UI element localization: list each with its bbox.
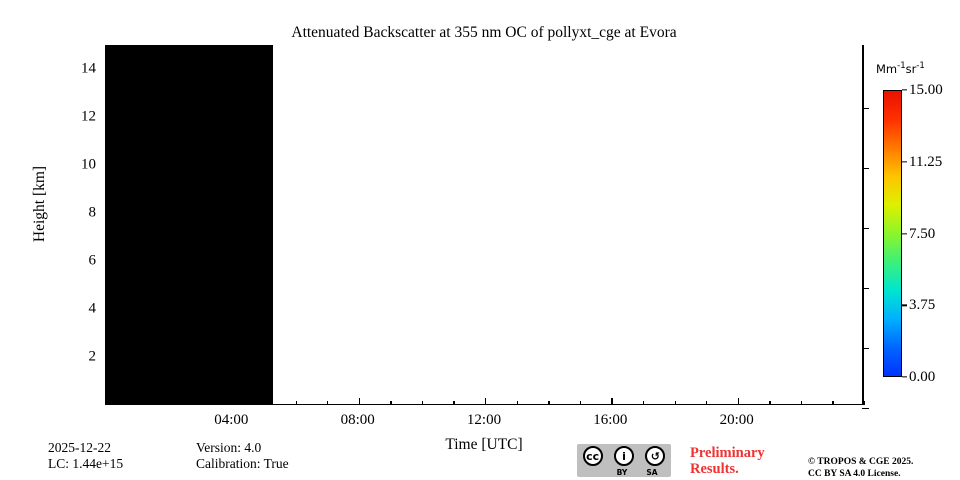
- x-axis-tick-label: 08:00: [341, 412, 375, 429]
- colorbar-tick: [902, 161, 907, 162]
- y-axis-tick-label: 6: [44, 253, 96, 270]
- x-axis-minor-tick: [453, 401, 454, 405]
- colorbar-tick-label: 11.25: [909, 154, 942, 170]
- y-axis-tick-label: 12: [44, 109, 96, 126]
- footer-version-block: Version: 4.0Calibration: True: [196, 440, 289, 472]
- x-axis-minor-tick: [327, 401, 328, 405]
- colorbar-tick-label: 3.75: [909, 297, 935, 313]
- data-area: [106, 45, 863, 404]
- y-axis-tick: [105, 69, 112, 70]
- y-axis-tick-label: 10: [44, 157, 96, 174]
- sa-glyph: ↺: [651, 451, 660, 462]
- y-axis-tick: [105, 357, 112, 358]
- colorbar-unit-exp2: -1: [916, 61, 924, 71]
- axes-right-spine: [862, 45, 863, 405]
- y-axis-tick-label: 14: [44, 61, 96, 78]
- copyright-note: © TROPOS & CGE 2025. CC BY SA 4.0 Licens…: [808, 456, 913, 480]
- cc-sublabel-by: BY: [607, 468, 637, 477]
- x-axis-tick: [485, 398, 486, 405]
- y-axis-minor-tick: [105, 381, 109, 382]
- colorbar-axis-outer-tick: [862, 408, 869, 409]
- y-axis-tick: [105, 261, 112, 262]
- colorbar[interactable]: 15.0011.257.503.750.00: [883, 90, 902, 377]
- creative-commons-icon: cc: [583, 446, 603, 466]
- colorbar-axis-outer-tick: [862, 288, 869, 289]
- x-axis-minor-tick: [201, 401, 202, 405]
- x-axis-tick: [359, 398, 360, 405]
- colorbar-tick: [902, 89, 907, 90]
- y-axis-tick: [105, 117, 112, 118]
- y-axis-tick-label: 8: [44, 205, 96, 222]
- y-axis-minor-tick: [105, 45, 109, 46]
- y-axis-tick: [105, 213, 112, 214]
- x-axis-tick-label: 04:00: [214, 412, 248, 429]
- colorbar-tick: [902, 233, 907, 234]
- x-axis-tick-label: 16:00: [593, 412, 627, 429]
- footer-date-block: 2025-12-22LC: 1.44e+15: [48, 440, 123, 472]
- x-axis-tick-label: 12:00: [467, 412, 501, 429]
- footer-lidar-constant: LC: 1.44e+15: [48, 456, 123, 471]
- colorbar-tick-label: 15.00: [909, 82, 943, 98]
- plot-axes[interactable]: [105, 45, 863, 405]
- colorbar-unit-exp1: -1: [897, 61, 905, 71]
- x-axis-minor-tick: [390, 401, 391, 405]
- x-axis-minor-tick: [138, 401, 139, 405]
- y-axis-minor-tick: [105, 141, 109, 142]
- x-axis-minor-tick: [422, 401, 423, 405]
- y-axis-minor-tick: [105, 93, 109, 94]
- x-axis-minor-tick: [801, 401, 802, 405]
- colorbar-tick: [902, 376, 907, 377]
- cc-badge-sublabels: BY SA: [577, 467, 671, 477]
- x-axis-tick: [738, 398, 739, 405]
- cc-license-badge[interactable]: cc i ↺ BY SA: [577, 444, 671, 477]
- x-axis-minor-tick: [706, 401, 707, 405]
- x-axis-minor-tick: [643, 401, 644, 405]
- x-axis-minor-tick: [864, 401, 865, 405]
- y-axis-tick: [105, 165, 112, 166]
- measured-data-block: [106, 45, 273, 404]
- x-axis-minor-tick: [548, 401, 549, 405]
- x-axis-minor-tick: [106, 401, 107, 405]
- y-axis-minor-tick: [105, 285, 109, 286]
- y-axis-minor-tick: [105, 189, 109, 190]
- footer-version: Version: 4.0: [196, 440, 261, 455]
- x-axis-minor-tick: [580, 401, 581, 405]
- y-axis-tick-label: 2: [44, 349, 96, 366]
- x-axis-tick: [232, 398, 233, 405]
- colorbar-axis-outer-tick: [862, 168, 869, 169]
- colorbar-unit-label: Mm-1sr-1: [876, 61, 925, 76]
- cc-glyph: cc: [586, 451, 599, 462]
- y-axis-minor-tick: [105, 333, 109, 334]
- colorbar-tick: [902, 305, 907, 306]
- colorbar-tick-label: 0.00: [909, 369, 935, 385]
- colorbar-unit-sr: sr: [906, 62, 917, 76]
- cc-badge-icons: cc i ↺: [577, 444, 671, 468]
- x-axis-minor-tick: [675, 401, 676, 405]
- x-axis-tick: [611, 398, 612, 405]
- preliminary-results-note: Preliminary Results.: [690, 445, 765, 477]
- colorbar-gradient: [883, 90, 902, 377]
- x-axis-minor-tick: [832, 401, 833, 405]
- x-axis-minor-tick: [517, 401, 518, 405]
- lidar-quicklook-figure: Attenuated Backscatter at 355 nm OC of p…: [0, 0, 960, 480]
- x-axis-minor-tick: [264, 401, 265, 405]
- page-title: Attenuated Backscatter at 355 nm OC of p…: [105, 24, 863, 42]
- colorbar-axis-outer-tick: [862, 348, 869, 349]
- y-axis-minor-tick: [105, 237, 109, 238]
- share-alike-icon: ↺: [645, 446, 665, 466]
- colorbar-axis-outer-tick: [862, 108, 869, 109]
- x-axis-minor-tick: [769, 401, 770, 405]
- cc-sublabel-sa: SA: [637, 468, 667, 477]
- attribution-by-icon: i: [614, 446, 634, 466]
- colorbar-unit-mm: Mm: [876, 62, 897, 76]
- by-glyph: i: [622, 451, 626, 462]
- x-axis-minor-tick: [296, 401, 297, 405]
- x-axis-tick-label: 20:00: [720, 412, 754, 429]
- y-axis-tick-label: 4: [44, 301, 96, 318]
- footer-calibration: Calibration: True: [196, 456, 289, 471]
- x-axis-minor-tick: [169, 401, 170, 405]
- y-axis-tick: [105, 309, 112, 310]
- colorbar-tick-label: 7.50: [909, 226, 935, 242]
- footer-date: 2025-12-22: [48, 440, 111, 455]
- colorbar-axis-outer-tick: [862, 228, 869, 229]
